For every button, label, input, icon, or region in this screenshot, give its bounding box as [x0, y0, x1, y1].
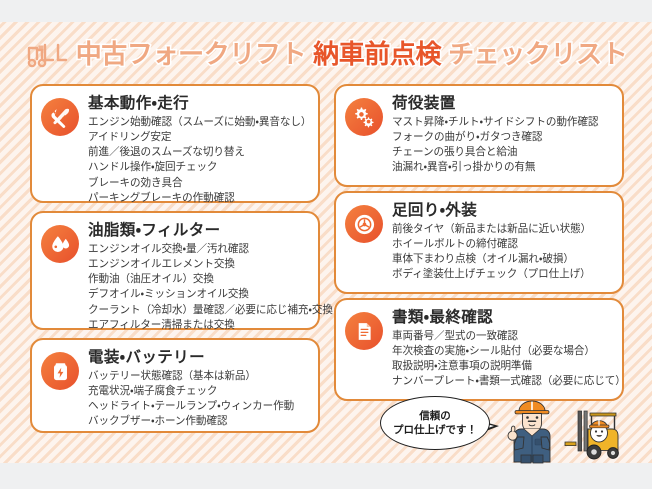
tire-wheel-icon	[345, 205, 383, 243]
infographic-page: 中古フォークリフト 納車前点検 チェックリスト 基本動作・走行 エンジン始動確認…	[0, 0, 652, 489]
list-item: 油漏れ・異音・引っ掛かりの有無	[392, 160, 612, 175]
checklist: 前後タイヤ（新品または新品に近い状態） ホイールボルトの締付確認 車体下まわり点…	[392, 222, 612, 283]
card-basic-operation: 基本動作・走行 エンジン始動確認（スムーズに始動・異音なし） アイドリング安定 …	[30, 84, 320, 203]
list-item: マスト昇降・チルト・サイドシフトの動作確認	[392, 115, 612, 130]
list-item: バッテリー状態確認（基本は新品）	[88, 369, 308, 384]
list-item: 車両番号／型式の一致確認	[392, 329, 612, 344]
list-item: エンジンオイルエレメント交換	[88, 257, 308, 272]
page-title: 中古フォークリフト 納車前点検 チェックリスト	[0, 33, 652, 75]
wrench-screwdriver-icon	[41, 98, 79, 136]
checklist: 車両番号／型式の一致確認 年次検査の実施・シール貼付（必要な場合） 取扱説明・注…	[392, 329, 612, 390]
list-item: アイドリング安定	[88, 130, 308, 145]
list-item: クーラント（冷却水）量確認／必要に応じ補充・交換	[88, 303, 308, 318]
title-segment-3: チェックリスト	[448, 41, 627, 67]
bubble-line-1: 信頼の	[419, 409, 451, 423]
list-item: チェーンの張り具合と給油	[392, 145, 612, 160]
list-item: 前進／後退のスムーズな切り替え	[88, 145, 308, 160]
list-item: エアフィルター清掃または交換	[88, 318, 308, 333]
list-item: デフオイル・ミッションオイル交換	[88, 287, 308, 302]
list-item: 年次検査の実施・シール貼付（必要な場合）	[392, 344, 612, 359]
list-item: パーキングブレーキの作動確認	[88, 191, 308, 206]
mascot-area: 信頼の プロ仕上げです！	[380, 393, 630, 465]
checklist: エンジン始動確認（スムーズに始動・異音なし） アイドリング安定 前進／後退のスム…	[88, 115, 308, 206]
card-documents-final-check: 書類・最終確認 車両番号／型式の一致確認 年次検査の実施・シール貼付（必要な場合…	[334, 298, 624, 401]
worker-with-forklift-illustration	[502, 393, 630, 465]
card-load-handling: 荷役装置 マスト昇降・チルト・サイドシフトの動作確認 フォークの曲がり・ガタつき…	[334, 84, 624, 187]
card-title: 書類・最終確認	[392, 309, 612, 327]
forklift-icon	[25, 39, 69, 69]
battery-icon	[41, 352, 79, 390]
card-title: 油脂類・フィルター	[88, 222, 308, 240]
title-segment-2: 納車前点検	[313, 41, 441, 67]
list-item: ブレーキの効き具合	[88, 176, 308, 191]
card-oils-filters: 油脂類・フィルター エンジンオイル交換・量／汚れ確認 エンジンオイルエレメント交…	[30, 211, 320, 330]
speech-bubble: 信頼の プロ仕上げです！	[380, 396, 490, 450]
list-item: ナンバープレート・書類一式確認（必要に応じて）	[392, 374, 612, 389]
list-item: 取扱説明・注意事項の説明準備	[392, 359, 612, 374]
list-item: ホイールボルトの締付確認	[392, 237, 612, 252]
document-icon	[345, 312, 383, 350]
checklist: マスト昇降・チルト・サイドシフトの動作確認 フォークの曲がり・ガタつき確認 チェ…	[392, 115, 612, 176]
list-item: エンジンオイル交換・量／汚れ確認	[88, 242, 308, 257]
list-item: 充電状況・端子腐食チェック	[88, 384, 308, 399]
list-item: 前後タイヤ（新品または新品に近い状態）	[392, 222, 612, 237]
card-title: 荷役装置	[392, 95, 612, 113]
card-title: 足回り・外装	[392, 202, 612, 220]
list-item: 車体下まわり点検（オイル漏れ・破損）	[392, 252, 612, 267]
list-item: フォークの曲がり・ガタつき確認	[392, 130, 612, 145]
list-item: ハンドル操作・旋回チェック	[88, 160, 308, 175]
gears-icon	[345, 98, 383, 136]
card-title: 電装・バッテリー	[88, 349, 308, 367]
list-item: ヘッドライト・テールランプ・ウィンカー作動	[88, 399, 308, 414]
title-segment-1: 中古フォークリフト	[76, 41, 306, 67]
checklist: エンジンオイル交換・量／汚れ確認 エンジンオイルエレメント交換 作動油（油圧オイ…	[88, 242, 308, 333]
card-chassis-exterior: 足回り・外装 前後タイヤ（新品または新品に近い状態） ホイールボルトの締付確認 …	[334, 191, 624, 294]
list-item: 作動油（油圧オイル）交換	[88, 272, 308, 287]
checklist: バッテリー状態確認（基本は新品） 充電状況・端子腐食チェック ヘッドライト・テー…	[88, 369, 308, 430]
list-item: バックブザー・ホーン作動確認	[88, 414, 308, 429]
card-electrical-battery: 電装・バッテリー バッテリー状態確認（基本は新品） 充電状況・端子腐食チェック …	[30, 338, 320, 433]
bubble-line-2: プロ仕上げです！	[393, 423, 477, 437]
list-item: ボディ塗装仕上げチェック（プロ仕上げ）	[392, 267, 612, 282]
oil-droplet-icon	[41, 225, 79, 263]
list-item: エンジン始動確認（スムーズに始動・異音なし）	[88, 115, 308, 130]
card-title: 基本動作・走行	[88, 95, 308, 113]
